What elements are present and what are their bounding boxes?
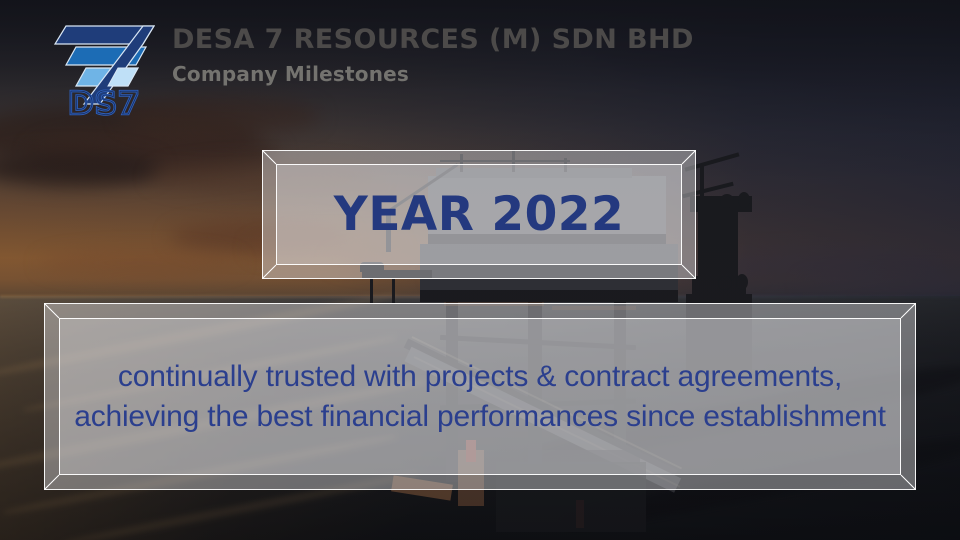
year-panel[interactable]: YEAR 2022 [262, 150, 696, 279]
logo-wordmark-ds7: DS7 DS7 [68, 86, 141, 118]
slide-subtitle: Company Milestones [172, 64, 812, 84]
header-titles: DESA 7 RESOURCES (M) SDN BHD Company Mil… [172, 26, 812, 84]
company-title: DESA 7 RESOURCES (M) SDN BHD [172, 26, 812, 53]
milestone-text-panel[interactable]: continually trusted with projects & cont… [44, 303, 916, 490]
body-panel-content: continually trusted with projects & cont… [59, 318, 901, 475]
presentation-slide: DS7 DS7 DESA 7 RESOURCES (M) SDN BHD Com… [0, 0, 960, 540]
ds7-logo[interactable]: DS7 DS7 [48, 18, 163, 118]
year-panel-content: YEAR 2022 [276, 164, 682, 265]
year-label: YEAR 2022 [334, 191, 624, 238]
svg-text:DS7: DS7 [68, 86, 141, 118]
slide-header: DS7 DS7 DESA 7 RESOURCES (M) SDN BHD Com… [0, 0, 960, 120]
milestone-description: continually trusted with projects & cont… [59, 357, 901, 437]
